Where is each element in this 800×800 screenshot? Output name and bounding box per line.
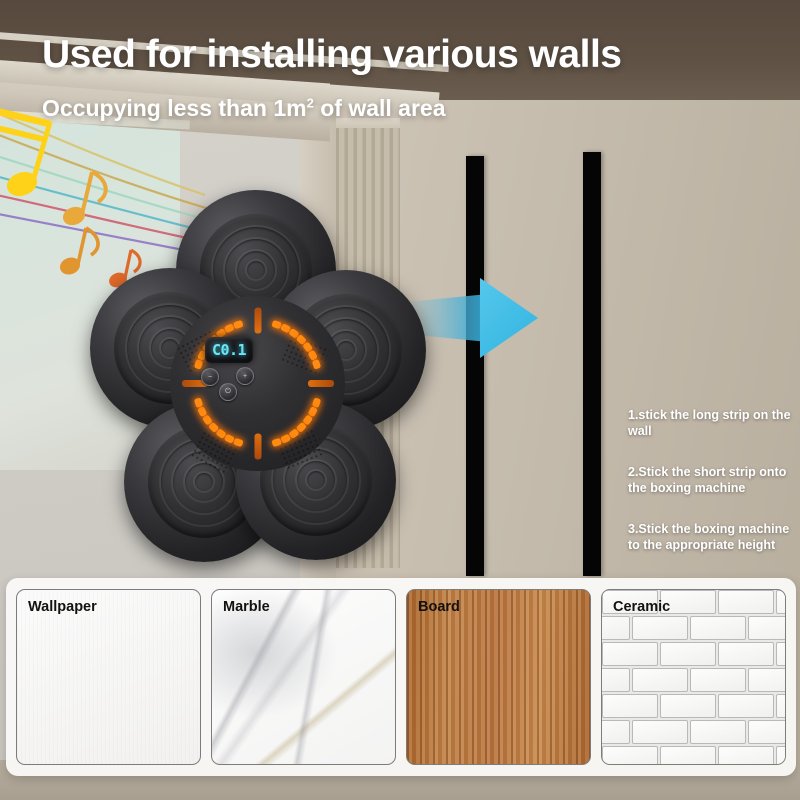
ceramic-tile [602,746,658,765]
ceramic-tile [660,746,716,765]
device-display: C0.1 [205,337,253,363]
ceramic-tile [776,590,786,614]
ceramic-tile [690,720,746,744]
led-arm [254,308,261,334]
swatch-ceramic[interactable]: Ceramic [601,589,786,765]
ceramic-tile [690,668,746,692]
led-arm [254,434,261,460]
ceramic-tile [690,616,746,640]
subtitle-suffix: of wall area [314,95,446,121]
led-indicator [271,438,282,447]
ceramic-tile [632,720,688,744]
ceramic-tile [601,616,630,640]
subtitle-superscript: 2 [307,95,314,110]
ceramic-tile [748,720,786,744]
led-indicator-ring [170,296,345,471]
ceramic-tile [601,720,630,744]
wall-mount-long-strip [466,156,484,576]
installation-step-2: 2.Stick the short strip onto the boxing … [628,464,798,496]
ceramic-tile [602,642,658,666]
power-button[interactable]: ⏻ [219,383,237,401]
volume-up-button[interactable]: + [236,367,254,385]
ceramic-tile [601,668,630,692]
installation-step-3: 3.Stick the boxing machine to the approp… [628,521,798,553]
installation-steps: 1.stick the long strip on the wall 2.Sti… [628,407,798,578]
ceramic-tile [632,668,688,692]
ceramic-tile-pattern [602,590,785,764]
swatch-marble[interactable]: Marble [211,589,396,765]
ceramic-tile [632,616,688,640]
wall-mount-short-strip [583,152,601,576]
ceramic-tile [660,642,716,666]
ceramic-tile [776,642,786,666]
ceramic-tile [748,668,786,692]
ceramic-tile [718,642,774,666]
swatch-wallpaper[interactable]: Wallpaper [16,589,201,765]
music-boxing-machine[interactable]: C0.1 − + ⏻ [88,188,428,570]
arrow-head [480,278,538,358]
swatch-board[interactable]: Board [406,589,591,765]
led-indicator [233,438,244,447]
led-indicator [233,320,244,329]
installation-step-1: 1.stick the long strip on the wall [628,407,798,439]
display-value: C0.1 [212,341,246,359]
swatch-label: Ceramic [613,599,670,615]
ceramic-tile [718,694,774,718]
product-infographic: Used for installing various walls Occupy… [0,0,800,800]
swatch-label: Wallpaper [28,599,97,615]
led-indicator [194,359,203,370]
ceramic-tile [776,746,786,765]
led-indicator [312,359,321,370]
ceramic-tile [776,694,786,718]
ceramic-tile [748,616,786,640]
ceramic-tile [660,694,716,718]
ceramic-tile [602,694,658,718]
ceramic-tile [718,590,774,614]
swatch-label: Marble [223,599,270,615]
volume-down-button[interactable]: − [201,368,219,386]
swatch-label: Board [418,599,460,615]
led-arm [308,380,334,387]
ceramic-tile [718,746,774,765]
material-swatch-panel: Wallpaper Marble Board Ceramic [6,578,796,776]
